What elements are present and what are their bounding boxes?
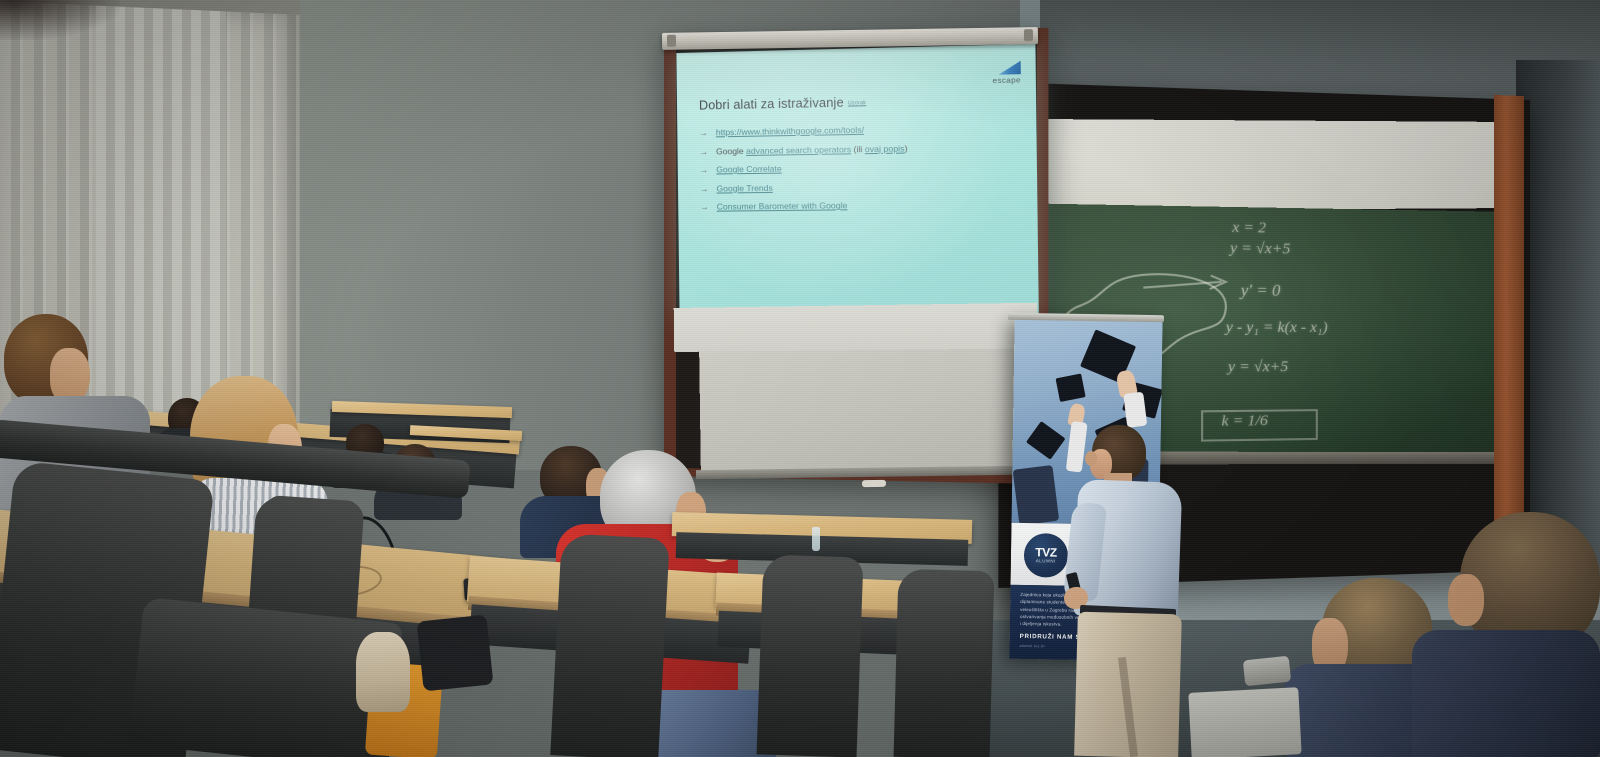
roller-endcap-left: [667, 35, 676, 47]
chalk-line-1: x = 2: [1232, 219, 1266, 237]
slide-title-link[interactable]: Uzorak: [848, 100, 866, 106]
arrow-right-icon: →: [699, 147, 708, 156]
slide-title: Dobri alati za istraživanjeUzorak: [699, 95, 866, 113]
banner-url: alumni.tvz.hr: [1019, 644, 1045, 648]
escape-logo: escape: [992, 61, 1021, 85]
escape-triangle-mark-icon: [998, 61, 1021, 75]
bullet-text: Consumer Barometer with Google: [717, 201, 848, 211]
link-google-correlate[interactable]: Google Correlate: [716, 164, 782, 175]
bullet-text: Google Correlate: [716, 165, 782, 175]
wood-pillar: [1494, 95, 1524, 567]
link-consumer-barometer[interactable]: Consumer Barometer with Google: [717, 200, 848, 211]
sleeve: [1123, 392, 1147, 428]
seat-back: [757, 554, 864, 757]
ear: [1448, 574, 1484, 626]
chalk-line-4: y - y₁ = k(x - x₁): [1226, 319, 1328, 337]
chalk-line-3: y' = 0: [1241, 282, 1281, 301]
seat-back: [894, 569, 995, 757]
seat-back: [550, 533, 669, 757]
chalk-line-2: y = √x+5: [1230, 240, 1290, 258]
lecture-hall-photo: x = 2 y = √x+5 y' = 0 y - y₁ = k(x - x₁)…: [0, 0, 1600, 757]
escape-logo-word: escape: [993, 75, 1021, 85]
slide-title-text: Dobri alati za istraživanje: [699, 96, 844, 113]
graduation-cap-icon: [1056, 373, 1086, 402]
water-bottle[interactable]: [812, 527, 820, 551]
list-item: → Google Correlate: [700, 161, 1010, 174]
link-ovaj-popis[interactable]: ovaj popis: [865, 143, 905, 154]
chalk-line-5: y = √x+5: [1228, 359, 1288, 377]
list-item: → Google Trends: [700, 180, 1010, 193]
text-google: Google: [716, 145, 746, 156]
torso: [1412, 630, 1600, 757]
arrow-right-icon: →: [700, 203, 709, 212]
link-thinkwithgoogle[interactable]: https://www.thinkwithgoogle.com/tools/: [716, 125, 864, 138]
projection-screen-blank-area: [674, 303, 1038, 352]
vertical-blinds-secondary: [96, 0, 226, 450]
ceiling-shadow: [0, 0, 120, 40]
link-advanced-search-operators[interactable]: advanced search operators: [746, 144, 851, 156]
whiteboard: [699, 338, 1028, 477]
attendee-hair-light-foreground: [356, 632, 410, 712]
arrow-right-icon: →: [699, 128, 708, 137]
text-close-paren: ): [904, 143, 907, 153]
bullet-text: Google advanced search operators (ili ov…: [716, 144, 908, 156]
chalk-line-6: k = 1/6: [1221, 413, 1267, 431]
list-item: → Consumer Barometer with Google: [700, 200, 1010, 212]
board-upper-white-panel: [1037, 119, 1517, 211]
link-google-trends[interactable]: Google Trends: [716, 182, 772, 193]
seat-armrest: [1188, 687, 1301, 757]
whiteboard-marker: [862, 480, 886, 487]
bullet-text: https://www.thinkwithgoogle.com/tools/: [716, 126, 864, 138]
presenter: [1052, 425, 1192, 757]
list-item: → Google advanced search operators (ili …: [699, 142, 1009, 156]
seat-hardware: [1243, 656, 1291, 687]
roller-endcap-right: [1024, 29, 1033, 41]
projected-slide: escape Dobri alati za istraživanjeUzorak…: [676, 44, 1038, 319]
slide-bullet-list: → https://www.thinkwithgoogle.com/tools/…: [699, 123, 1010, 221]
bag-foreground: [417, 615, 494, 692]
arrow-right-icon: →: [700, 166, 709, 175]
text-ili-open: (ili: [851, 143, 865, 153]
presenter-ear: [1085, 451, 1097, 466]
list-item: → https://www.thinkwithgoogle.com/tools/: [699, 123, 1009, 138]
arrow-right-icon: →: [700, 184, 709, 193]
bullet-text: Google Trends: [716, 183, 772, 193]
